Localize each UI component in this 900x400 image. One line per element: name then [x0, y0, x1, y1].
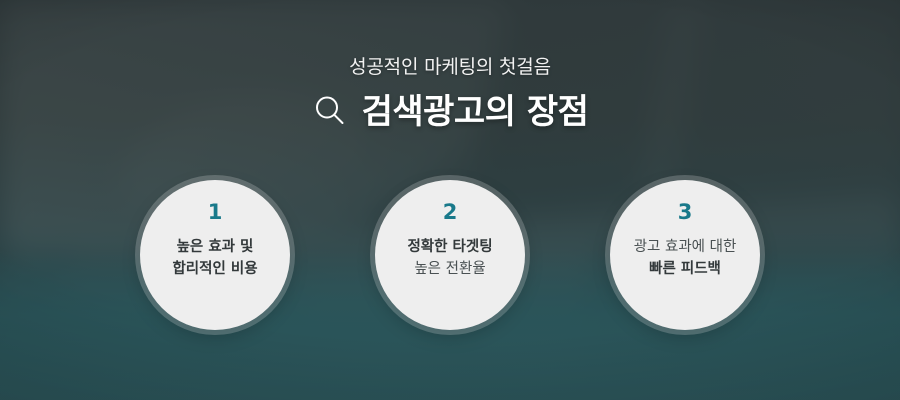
- benefit-card-line2: 합리적인 비용: [172, 258, 257, 280]
- benefit-card-2[interactable]: 2 정확한 타겟팅 높은 전환율: [375, 180, 525, 330]
- benefit-card-1[interactable]: 1 높은 효과 및 합리적인 비용: [140, 180, 290, 330]
- page-title: 검색광고의 장점: [362, 84, 589, 133]
- banner-content: 성공적인 마케팅의 첫걸음 검색광고의 장점 1 높은 효과 및 합리적인 비용…: [0, 0, 900, 400]
- search-icon: [312, 93, 348, 129]
- benefit-card-number: 2: [443, 202, 458, 223]
- benefit-card-line1: 높은 효과 및: [177, 236, 254, 258]
- benefit-card-line2: 빠른 피드백: [649, 258, 721, 280]
- benefit-card-line2: 높은 전환율: [414, 258, 485, 280]
- benefit-card-number: 3: [678, 202, 693, 223]
- banner-title-row: 검색광고의 장점: [0, 84, 900, 133]
- benefit-card-line1: 광고 효과에 대한: [634, 236, 737, 258]
- benefit-card-3[interactable]: 3 광고 효과에 대한 빠른 피드백: [610, 180, 760, 330]
- benefit-card-list: 1 높은 효과 및 합리적인 비용 2 정확한 타겟팅 높은 전환율 3 광고 …: [0, 180, 900, 330]
- banner-subtitle: 성공적인 마케팅의 첫걸음: [0, 52, 900, 79]
- benefit-card-line1: 정확한 타겟팅: [407, 236, 492, 258]
- benefit-card-number: 1: [208, 202, 223, 223]
- search-ad-benefits-banner: 성공적인 마케팅의 첫걸음 검색광고의 장점 1 높은 효과 및 합리적인 비용…: [0, 0, 900, 400]
